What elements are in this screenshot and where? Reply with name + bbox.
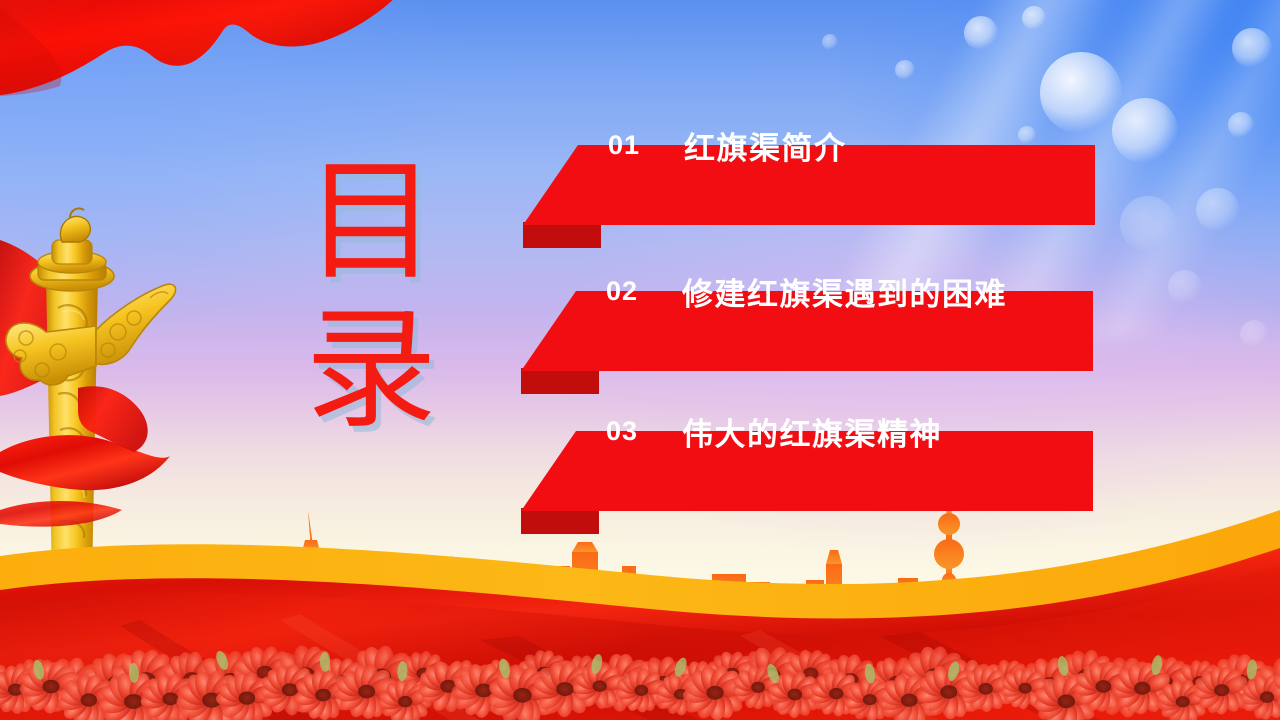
toc-item-number: 01 xyxy=(608,130,640,161)
red-chrysanthemum-row-icon xyxy=(0,620,1280,720)
banner-shadow-tab xyxy=(521,508,599,534)
slide-canvas: 目 录 01 红旗渠简介 02 修建红旗渠遇到的困难 03 伟大的红旗渠精神 xyxy=(0,0,1280,720)
toc-item-number: 03 xyxy=(606,416,638,447)
toc-item-label: 红旗渠简介 xyxy=(684,123,847,168)
page-title: 目 录 xyxy=(276,148,466,444)
toc-item-label: 伟大的红旗渠精神 xyxy=(682,409,942,454)
toc-item-label: 修建红旗渠遇到的困难 xyxy=(682,269,1007,314)
banner-shadow-tab xyxy=(523,222,601,248)
toc-item-number: 02 xyxy=(606,276,638,307)
banner-shadow-tab xyxy=(521,368,599,394)
